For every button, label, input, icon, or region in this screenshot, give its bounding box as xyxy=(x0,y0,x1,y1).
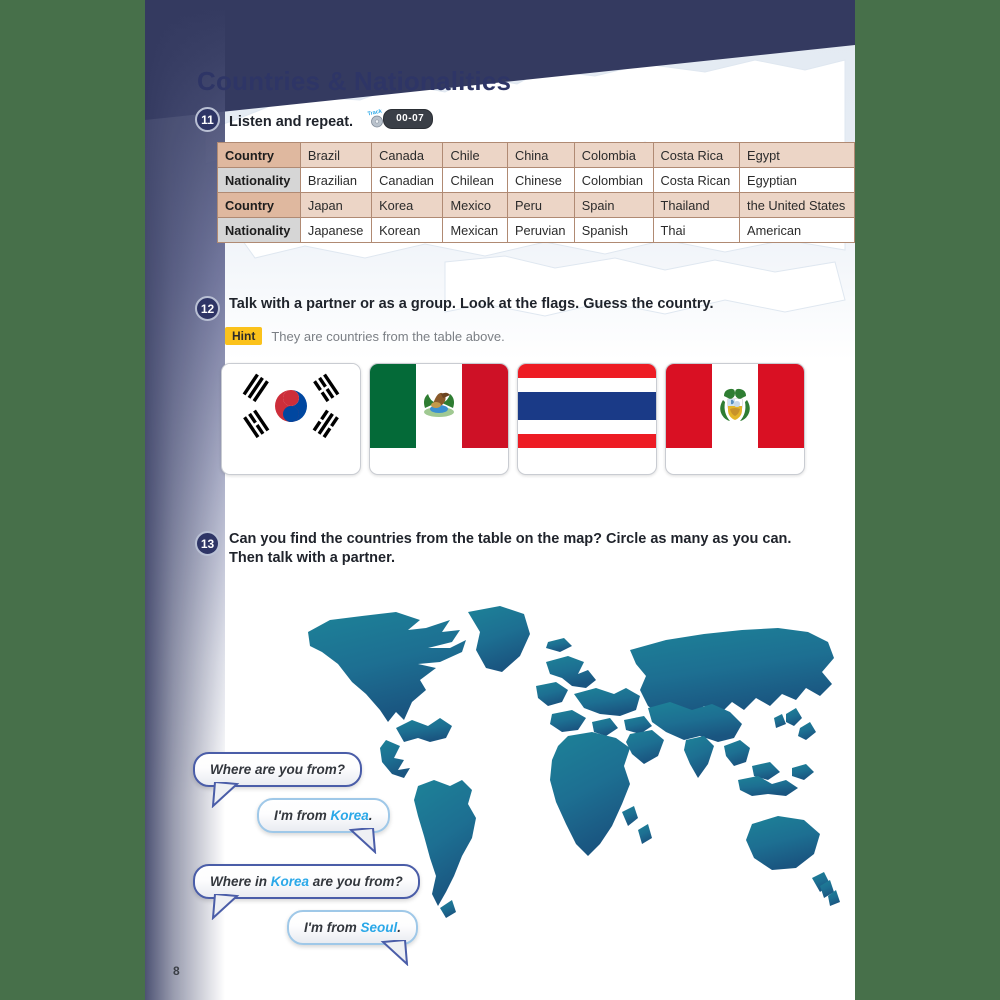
hint-row: Hint They are countries from the table a… xyxy=(225,327,505,345)
table-cell: Colombia xyxy=(574,143,653,168)
speech-bubble-4: I'm from Seoul. xyxy=(287,910,418,945)
table-row-header: Nationality xyxy=(218,168,301,193)
task-12: 12 Talk with a partner or as a group. Lo… xyxy=(195,295,815,321)
hint-badge: Hint xyxy=(225,327,262,345)
bubble-1-before: Where are you from? xyxy=(210,762,345,777)
table-cell: Chile xyxy=(443,143,508,168)
flag-peru-icon xyxy=(666,364,804,448)
table-cell: Brazil xyxy=(300,143,371,168)
task-11-instruction: Listen and repeat. xyxy=(229,114,353,130)
speech-bubble-4-tail xyxy=(377,940,411,966)
table-cell: Canada xyxy=(372,143,443,168)
bubble-3-after: are you from? xyxy=(309,874,403,889)
flag-thailand-icon xyxy=(518,364,656,448)
bubble-2-before: I'm from xyxy=(274,808,330,823)
task-number-badge-13: 13 xyxy=(195,531,220,556)
audio-track-chip[interactable]: Track 00-07 xyxy=(367,109,433,129)
task-13-instruction-line1: Can you find the countries from the tabl… xyxy=(229,531,791,547)
speech-bubble-1-tail xyxy=(209,782,243,808)
speech-bubble-1: Where are you from? xyxy=(193,752,362,787)
speech-bubble-2: I'm from Korea. xyxy=(257,798,390,833)
flag-card-korea[interactable] xyxy=(221,363,361,475)
table-cell: Peru xyxy=(507,193,574,218)
table-row: NationalityBrazilianCanadianChileanChine… xyxy=(218,168,855,193)
table-cell: Spain xyxy=(574,193,653,218)
hint-text: They are countries from the table above. xyxy=(271,329,504,344)
flag-card-peru[interactable] xyxy=(665,363,805,475)
page-title: Countries & Nationalities xyxy=(197,66,511,97)
task-13: 13 Can you find the countries from the t… xyxy=(195,530,835,569)
vocabulary-table: CountryBrazilCanadaChileChinaColombiaCos… xyxy=(217,142,855,243)
bubble-3-highlight: Korea xyxy=(271,874,309,889)
table-row: NationalityJapaneseKoreanMexicanPeruvian… xyxy=(218,218,855,243)
task-number-badge-12: 12 xyxy=(195,296,220,321)
table-cell: Spanish xyxy=(574,218,653,243)
task-13-text: Can you find the countries from the tabl… xyxy=(229,530,791,569)
table-cell: Thailand xyxy=(653,193,740,218)
task-12-instruction: Talk with a partner or as a group. Look … xyxy=(229,295,714,314)
bubble-2-after: . xyxy=(369,808,373,823)
speech-bubble-3: Where in Korea are you from? xyxy=(193,864,420,899)
flag-card-thailand[interactable] xyxy=(517,363,657,475)
bubble-3-before: Where in xyxy=(210,874,271,889)
table-cell: Chilean xyxy=(443,168,508,193)
table-cell: Peruvian xyxy=(507,218,574,243)
table-cell: Egypt xyxy=(740,143,855,168)
page-number: 8 xyxy=(173,964,180,978)
task-11: 11 Listen and repeat. Track 00-07 xyxy=(195,106,433,132)
table-row: CountryBrazilCanadaChileChinaColombiaCos… xyxy=(218,143,855,168)
table-row: CountryJapanKoreaMexicoPeruSpainThailand… xyxy=(218,193,855,218)
table-cell: Colombian xyxy=(574,168,653,193)
table-cell: Mexican xyxy=(443,218,508,243)
table-cell: Japan xyxy=(300,193,371,218)
table-cell: American xyxy=(740,218,855,243)
task-11-text: Listen and repeat. Track 00-07 xyxy=(229,106,433,132)
speech-bubble-2-tail xyxy=(345,828,379,854)
table-cell: Korea xyxy=(372,193,443,218)
bubble-4-highlight: Seoul xyxy=(360,920,397,935)
table-cell: Mexico xyxy=(443,193,508,218)
table-cell: Japanese xyxy=(300,218,371,243)
speech-bubble-3-tail xyxy=(209,894,243,920)
page-stage: Countries & Nationalities 11 Listen and … xyxy=(0,0,1000,1000)
bubble-4-after: . xyxy=(397,920,401,935)
cd-track-icon: Track xyxy=(367,109,389,129)
flag-card-mexico[interactable] xyxy=(369,363,509,475)
countries-nationalities-table: CountryBrazilCanadaChileChinaColombiaCos… xyxy=(217,142,855,243)
table-cell: Costa Rican xyxy=(653,168,740,193)
table-cell: the United States xyxy=(740,193,855,218)
table-cell: China xyxy=(507,143,574,168)
table-cell: Costa Rica xyxy=(653,143,740,168)
table-cell: Chinese xyxy=(507,168,574,193)
task-number-badge-11: 11 xyxy=(195,107,220,132)
track-number-label: 00-07 xyxy=(383,109,433,128)
table-cell: Brazilian xyxy=(300,168,371,193)
task-13-instruction-line2: Then talk with a partner. xyxy=(229,550,395,566)
flag-south-korea-icon xyxy=(222,364,360,448)
table-row-header: Country xyxy=(218,143,301,168)
table-cell: Thai xyxy=(653,218,740,243)
table-row-header: Country xyxy=(218,193,301,218)
table-cell: Canadian xyxy=(372,168,443,193)
table-cell: Korean xyxy=(372,218,443,243)
bubble-4-before: I'm from xyxy=(304,920,360,935)
table-row-header: Nationality xyxy=(218,218,301,243)
worksheet-page: Countries & Nationalities 11 Listen and … xyxy=(145,0,855,1000)
table-cell: Egyptian xyxy=(740,168,855,193)
flag-mexico-icon xyxy=(370,364,508,448)
bubble-2-highlight: Korea xyxy=(330,808,368,823)
